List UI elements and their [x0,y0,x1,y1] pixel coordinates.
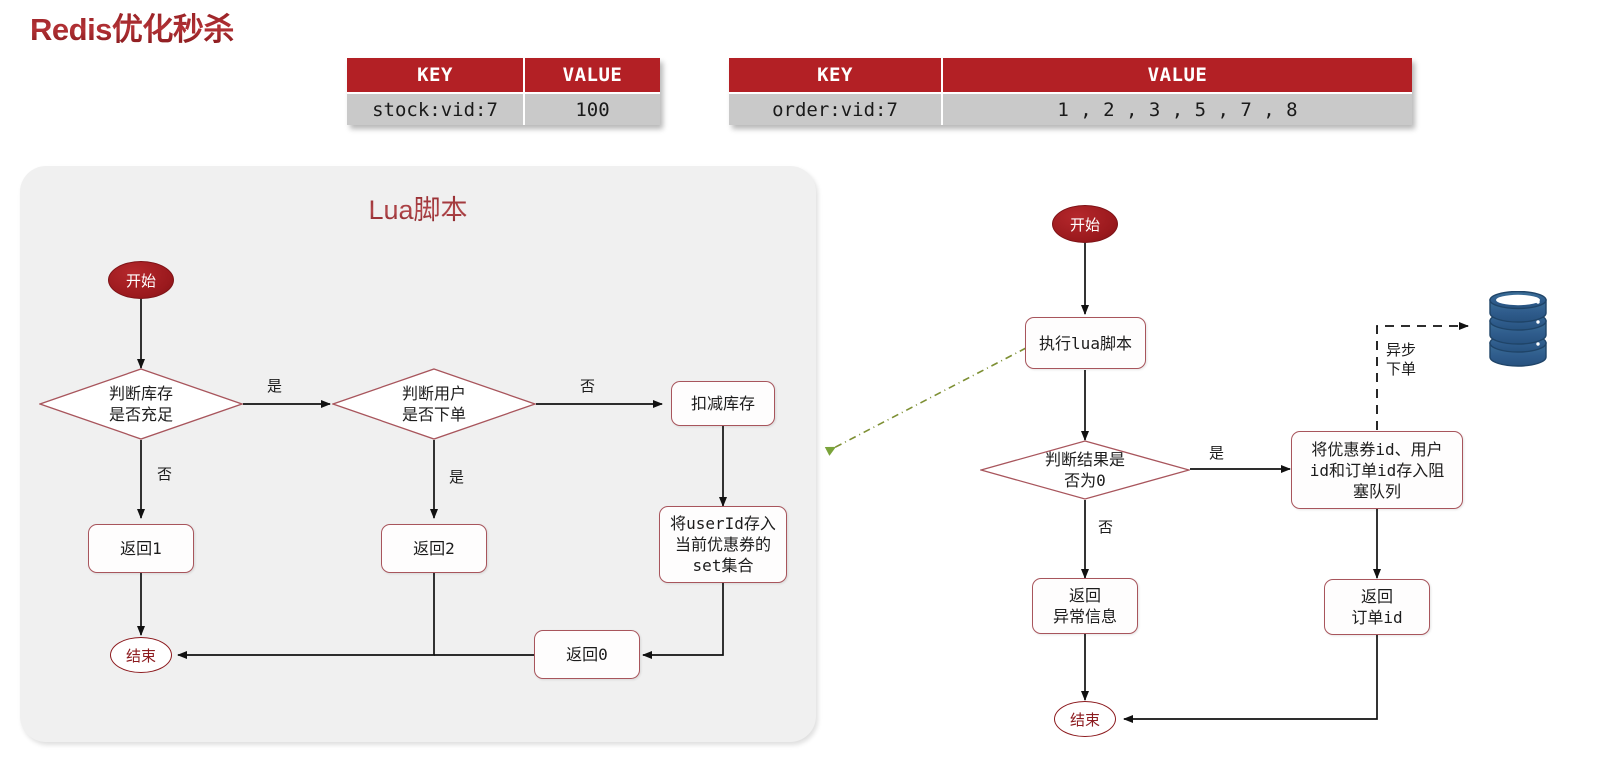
main-start-node[interactable]: 开始 [1052,205,1118,243]
cell-value: 1 , 2 , 3 , 5 , 7 , 8 [943,92,1412,125]
main-check-result-node[interactable]: 判断结果是 否为0 [980,440,1190,500]
lua-edge-label-user-yes: 是 [449,468,464,487]
node-label: 判断用户 是否下单 [402,383,466,425]
cell-key: stock:vid:7 [347,92,525,125]
lua-return1-node[interactable]: 返回1 [88,524,194,573]
cell-value: 100 [525,92,660,125]
table-row: stock:vid:7 100 [347,92,660,125]
lua-return0-node[interactable]: 返回0 [534,630,640,679]
lua-start-node[interactable]: 开始 [108,261,174,299]
lua-end-node[interactable]: 结束 [110,637,172,673]
main-return-orderid-node[interactable]: 返回 订单id [1324,579,1430,635]
node-label: 判断结果是 否为0 [1045,449,1125,491]
lua-deduct-stock-node[interactable]: 扣减库存 [671,381,775,426]
stock-kv-table: KEY VALUE stock:vid:7 100 [347,58,660,125]
table-header-row: KEY VALUE [347,58,660,92]
page-title: Redis优化秒杀 [30,4,234,49]
diagram-canvas: Redis优化秒杀 KEY VALUE stock:vid:7 100 KEY … [0,0,1606,760]
lua-return2-node[interactable]: 返回2 [381,524,487,573]
main-edge-label-async-order: 异步 下单 [1386,341,1416,379]
lua-panel-title: Lua脚本 [20,188,816,227]
main-exec-lua-node[interactable]: 执行lua脚本 [1025,317,1146,369]
main-edge-label-result-yes: 是 [1209,444,1224,463]
node-label: 判断库存 是否充足 [109,383,173,425]
column-header-key: KEY [729,58,943,92]
main-end-node[interactable]: 结束 [1054,701,1116,737]
main-edge-label-result-no: 否 [1098,518,1113,537]
table-row: order:vid:7 1 , 2 , 3 , 5 , 7 , 8 [729,92,1412,125]
lua-check-stock-node[interactable]: 判断库存 是否充足 [39,368,243,440]
order-kv-table: KEY VALUE order:vid:7 1 , 2 , 3 , 5 , 7 … [729,58,1412,125]
database-icon [1487,291,1549,367]
lua-edge-label-stock-no: 否 [157,465,172,484]
cell-key: order:vid:7 [729,92,943,125]
column-header-value: VALUE [943,58,1412,92]
table-header-row: KEY VALUE [729,58,1412,92]
main-return-error-node[interactable]: 返回 异常信息 [1032,578,1138,634]
lua-check-user-node[interactable]: 判断用户 是否下单 [332,368,536,440]
lua-edge-label-user-no: 否 [580,377,595,396]
column-header-key: KEY [347,58,525,92]
main-save-queue-node[interactable]: 将优惠券id、用户 id和订单id存入阻 塞队列 [1291,431,1463,509]
column-header-value: VALUE [525,58,660,92]
lua-edge-label-stock-yes: 是 [267,377,282,396]
lua-save-userid-node[interactable]: 将userId存入 当前优惠券的 set集合 [659,506,787,583]
